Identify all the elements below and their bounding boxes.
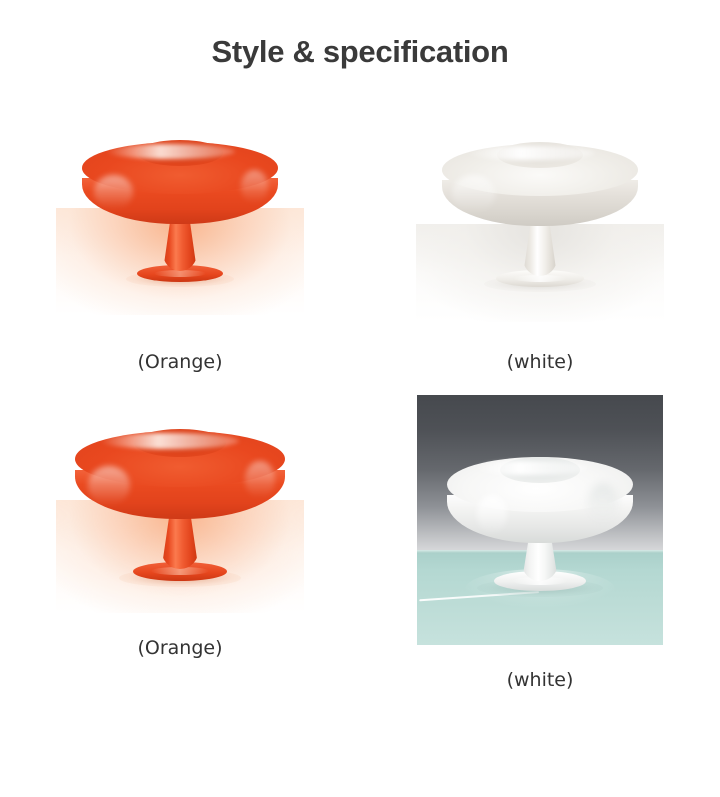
lamp-photo-orange-bottom[interactable] (56, 395, 304, 613)
nesso-lamp-white (416, 110, 664, 322)
lamp-dome (447, 457, 633, 543)
product-style-specification-page: Style & specification (0, 0, 720, 797)
lamp-dome (82, 142, 278, 224)
lamp-photo-white-top[interactable] (416, 110, 664, 322)
variant-caption: (Orange) (137, 637, 222, 659)
lamp-photo-orange-top[interactable] (56, 110, 304, 315)
gallery-item-white-bottom[interactable]: (white) (360, 395, 720, 691)
dome-center-dip (500, 457, 580, 483)
lamp-variant-gallery: (Orange) (0, 110, 720, 691)
variant-caption: (Orange) (137, 351, 222, 373)
lamp-dome (442, 144, 638, 226)
nesso-lamp-orange (56, 110, 304, 315)
gallery-row: (Orange) (0, 395, 720, 691)
gallery-item-orange-top[interactable]: (Orange) (0, 110, 360, 373)
nesso-lamp-white (417, 395, 663, 645)
variant-caption: (white) (507, 351, 574, 373)
lamp-dome (75, 431, 285, 519)
gallery-item-orange-bottom[interactable]: (Orange) (0, 395, 360, 691)
gallery-row: (Orange) (0, 110, 720, 373)
page-title: Style & specification (0, 34, 720, 70)
nesso-lamp-orange (56, 395, 304, 613)
gallery-item-white-top[interactable]: (white) (360, 110, 720, 373)
lamp-photo-white-bottom[interactable] (417, 395, 663, 645)
dome-center-dip (137, 140, 223, 166)
variant-caption: (white) (507, 669, 574, 691)
dome-center-dip (497, 142, 583, 168)
dome-center-dip (134, 429, 226, 457)
